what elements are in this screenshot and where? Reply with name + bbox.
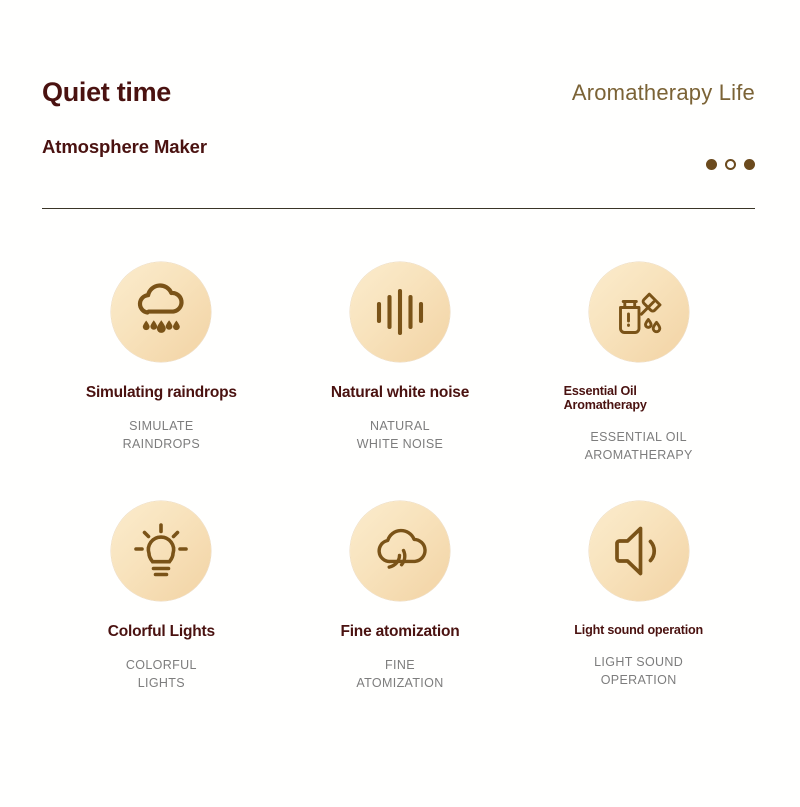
page-title: Quiet time [42,78,207,108]
caption-line-2: ATOMIZATION [356,674,443,692]
page-subtitle: Atmosphere Maker [42,108,207,157]
page-header: Quiet time Atmosphere Maker Aromatherapy… [0,0,800,215]
carousel-pagination[interactable] [706,159,755,170]
feature-label: Colorful Lights [108,623,215,641]
header-divider [42,208,755,209]
feature-caption: COLORFUL LIGHTS [126,656,197,692]
feature-caption: ESSENTIAL OIL AROMATHERAPY [585,428,693,464]
caption-line-1: FINE [356,656,443,674]
caption-line-2: AROMATHERAPY [585,446,693,464]
title-block: Quiet time Atmosphere Maker [42,78,207,157]
caption-line-2: WHITE NOISE [357,435,444,453]
feature-label: Light sound operation [574,623,703,637]
pagination-dot-1[interactable] [706,159,717,170]
feature-label: Natural white noise [331,384,469,402]
speaker-volume-icon [589,501,689,601]
feature-caption: SIMULATE RAINDROPS [123,417,200,453]
pagination-dot-3[interactable] [744,159,755,170]
caption-line-1: COLORFUL [126,656,197,674]
mist-cloud-icon [350,501,450,601]
feature-label: Essential Oil Aromatherapy [564,384,714,413]
product-feature-page: Quiet time Atmosphere Maker Aromatherapy… [0,0,800,807]
feature-card-white-noise[interactable]: Natural white noise NATURAL WHITE NOISE [281,262,520,464]
feature-card-fine-atomization[interactable]: Fine atomization FINE ATOMIZATION [281,501,520,692]
essential-oil-dropper-icon [589,262,689,362]
caption-line-2: LIGHTS [126,674,197,692]
feature-caption: FINE ATOMIZATION [356,656,443,692]
feature-label: Simulating raindrops [86,384,237,402]
feature-card-light-sound[interactable]: Light sound operation LIGHT SOUND OPERAT… [519,501,758,692]
feature-card-essential-oil[interactable]: Essential Oil Aromatherapy ESSENTIAL OIL… [519,262,758,464]
caption-line-1: ESSENTIAL OIL [585,428,693,446]
feature-grid: Simulating raindrops SIMULATE RAINDROPS [42,262,758,692]
pagination-dot-2[interactable] [725,159,736,170]
feature-card-raindrops[interactable]: Simulating raindrops SIMULATE RAINDROPS [42,262,281,464]
caption-line-1: NATURAL [357,417,444,435]
sound-wave-icon [350,262,450,362]
rain-cloud-icon [111,262,211,362]
caption-line-2: RAINDROPS [123,435,200,453]
caption-line-1: SIMULATE [123,417,200,435]
feature-caption: NATURAL WHITE NOISE [357,417,444,453]
caption-line-2: OPERATION [594,671,683,689]
light-bulb-icon [111,501,211,601]
caption-line-1: LIGHT SOUND [594,653,683,671]
brand-label: Aromatherapy Life [572,80,755,106]
feature-label: Fine atomization [340,623,459,641]
feature-caption: LIGHT SOUND OPERATION [594,653,683,689]
feature-card-colorful-lights[interactable]: Colorful Lights COLORFUL LIGHTS [42,501,281,692]
